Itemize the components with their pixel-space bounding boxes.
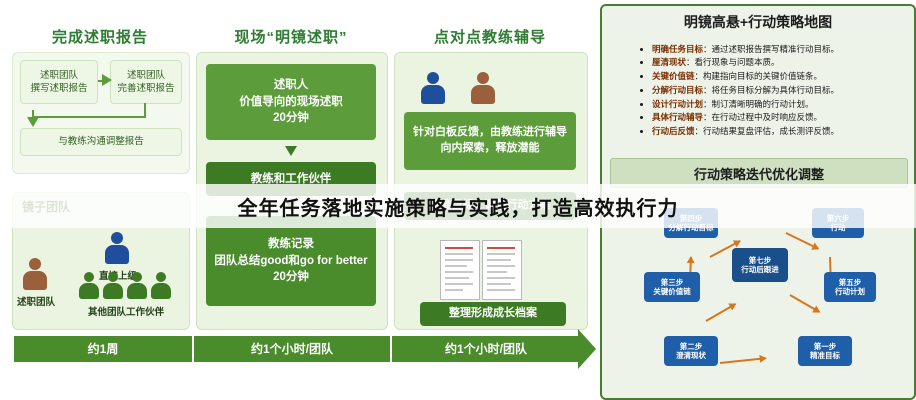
bullet-term: 厘清现状 [652,57,686,67]
box-growth-archive: 整理形成成长档案 [420,302,566,326]
overlay-banner: 全年任务落地实施策略与实践，打造高效执行力 [0,184,916,228]
node-step-2[interactable]: 第二步 澄清现状 [664,336,718,366]
node-step-5[interactable]: 第五步 行动计划 [824,272,876,302]
bullet-item: 设计行动计划：制订清晰明确的行动计划。 [652,98,916,112]
box-coach-record: 教练记录 团队总结good和go for better 20分钟 [206,216,376,306]
bullet-term: 明确任务目标 [652,44,703,54]
person-partner-icon [78,272,100,300]
map-arrow [706,303,736,322]
node-step-1[interactable]: 第一步 精准目标 [798,336,852,366]
person-leader-icon [104,232,130,266]
box-communicate-with-coach: 与教练沟通调整报告 [20,128,182,156]
timeline-label-3: 约1个小时/团队 [392,340,580,357]
box-team-refine-report: 述职团队 完善述职报告 [110,60,182,104]
map-arrow [720,357,766,364]
label-reporting-team: 述职团队 [14,294,58,308]
bullet-desc: ：构建指向目标的关键价值链条。 [695,71,823,81]
diagram-root: 完成述职报告 现场“明镜述职” 点对点教练辅导 述职团队 撰写述职报告 述职团队… [0,0,916,400]
strategy-bullet-list: 明确任务目标：通过述职报告撰写精准行动目标。 厘清现状：看行现象与问题本质。 关… [612,43,916,139]
node-step-7[interactable]: 第七步 行动后跟进 [732,248,788,282]
person-partner-icon [102,272,124,300]
bullet-desc: ：通过述职报告撰写精准行动目标。 [703,44,839,54]
bullet-desc: ：将任务目标分解为具体行动目标。 [703,85,839,95]
bullet-item: 具体行动辅导：在行动过程中及时响应反馈。 [652,111,916,125]
bullet-item: 厘清现状：看行现象与问题本质。 [652,56,916,70]
person-partner-icon [126,272,148,300]
column-title-1: 完成述职报告 [10,26,190,47]
map-arrow [790,294,820,313]
bullet-term: 设计行动计划 [652,99,703,109]
column-title-3: 点对点教练辅导 [392,26,588,47]
document-page-icon [482,240,522,300]
node-step-3[interactable]: 第三步 关键价值链 [644,272,700,302]
bullet-desc: ：行动结果复盘评估，成长测评反馈。 [695,126,840,136]
connector-line [32,116,146,118]
column-title-2: 现场“明镜述职” [196,26,386,47]
bullet-term: 关键价值链 [652,71,695,81]
box-team-write-report: 述职团队 撰写述职报告 [20,60,98,104]
bullet-desc: ：在行动过程中及时响应反馈。 [703,112,822,122]
box-whiteboard-feedback: 针对白板反馈，由教练进行辅导 向内探索，释放潜能 [404,112,576,170]
right-panel-title: 明镜高悬+行动策略地图 [602,12,914,32]
timeline-label-2: 约1个小时/团队 [194,340,390,357]
bullet-item: 明确任务目标：通过述职报告撰写精准行动目标。 [652,43,916,57]
bullet-desc: ：看行现象与问题本质。 [686,57,780,67]
bullet-item: 行动后反馈：行动结果复盘评估，成长测评反馈。 [652,125,916,139]
arrow-down-icon [27,117,39,127]
bullet-term: 分解行动目标 [652,85,703,95]
person-partner-icon [150,272,172,300]
bullet-item: 分解行动目标：将任务目标分解为具体行动目标。 [652,84,916,98]
bullet-desc: ：制订清晰明确的行动计划。 [703,99,814,109]
connector-line [144,103,146,117]
bullet-term: 行动后反馈 [652,126,695,136]
person-coachee-icon [470,72,496,106]
person-coach-icon [420,72,446,106]
document-page-icon [440,240,480,300]
banner-title: 全年任务落地实施策略与实践，打造高效执行力 [238,192,679,221]
timeline-label-1: 约1周 [14,340,192,357]
arrow-down-icon [285,146,297,156]
person-reporting-team-icon [22,258,48,292]
arrow-right-icon [102,74,112,86]
bullet-term: 具体行动辅导 [652,112,703,122]
label-other-partners: 其他团队工作伙伴 [72,304,180,318]
box-presenter-onsite: 述职人 价值导向的现场述职 20分钟 [206,64,376,140]
bullet-item: 关键价值链：构建指向目标的关键价值链条。 [652,70,916,84]
